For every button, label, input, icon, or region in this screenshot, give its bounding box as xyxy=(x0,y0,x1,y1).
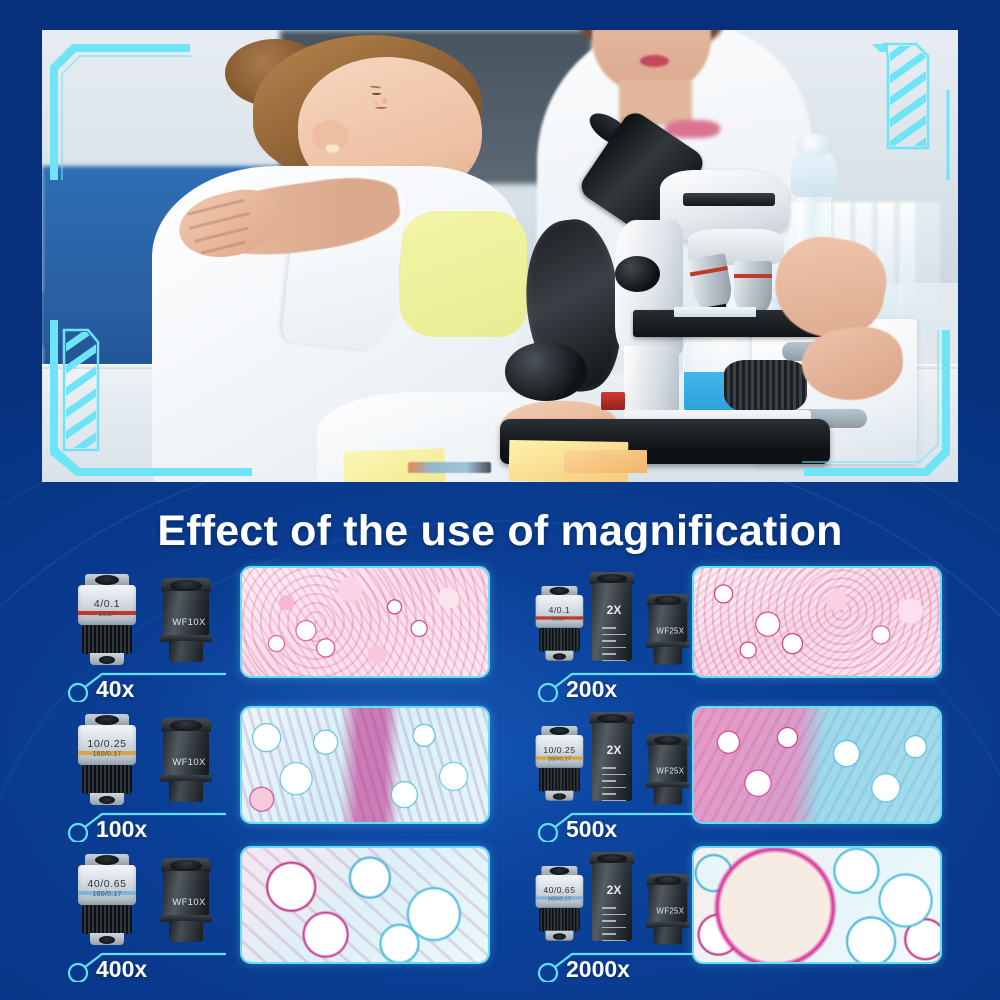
eyepiece-label: WF10X xyxy=(163,757,215,768)
sticky-note-small xyxy=(564,450,646,473)
hero-photo-frame xyxy=(42,30,958,482)
objective-lens: 10/0.25 160/0.17 xyxy=(76,714,138,806)
objective-spec: 160/0.17 xyxy=(536,896,584,902)
objective-lens: 10/0.25 160/0.17 xyxy=(534,726,585,801)
eyepiece: WF10X xyxy=(160,858,212,942)
objective-lens: 4/0.1 160/- xyxy=(534,586,585,661)
girl-earring xyxy=(326,145,339,151)
objective-power: 4/0.1 xyxy=(94,598,120,610)
lens-group: 4/0.1 160/- WF10X xyxy=(62,572,240,668)
specimen-image-400x xyxy=(240,846,490,964)
objective-lens: 4/0.1 160/- xyxy=(76,574,138,666)
product-infographic: Effect of the use of magnification 4/0.1… xyxy=(0,0,1000,1000)
specimen-image-100x xyxy=(240,706,490,824)
pen xyxy=(408,462,490,473)
girl-nose xyxy=(382,96,387,103)
barlow-label: 2X xyxy=(592,743,636,757)
objective-power: 10/0.25 xyxy=(543,746,575,756)
microscope-coarse-knob xyxy=(505,342,587,401)
specimen-image-40x xyxy=(240,566,490,678)
magnification-label: 100x xyxy=(96,816,246,843)
girl-shirt xyxy=(399,211,527,338)
lens-group: 10/0.25 160/0.17 WF10X xyxy=(62,712,240,808)
objective-power: 10/0.25 xyxy=(87,738,126,750)
microscope-power-switch xyxy=(601,392,625,410)
eyepiece-label: WF25X xyxy=(649,907,693,916)
objective-spec: 160/- xyxy=(78,611,136,618)
girl-eye xyxy=(372,92,381,95)
eyepiece: WF25X xyxy=(646,734,690,805)
objective-spec: 160/0.17 xyxy=(78,751,136,758)
magnification-label: 200x xyxy=(566,676,716,703)
barlow-lens: 2X xyxy=(590,572,634,662)
barlow-label: 2X xyxy=(592,603,636,617)
objective-spec: 160/0.17 xyxy=(536,756,584,762)
girl-eyebrow xyxy=(370,85,381,88)
eyepiece: WF10X xyxy=(160,578,212,662)
microscope-fine-knob xyxy=(615,256,661,292)
lens-group: 10/0.25 160/0.17 2X WF25X xyxy=(532,712,710,808)
barlow-lens: 2X xyxy=(590,712,634,802)
magnification-label: 400x xyxy=(96,956,246,983)
specimen-image-500x xyxy=(692,706,942,824)
eyepiece-label: WF25X xyxy=(649,767,693,776)
eyepiece: WF25X xyxy=(646,594,690,665)
eyepiece-label: WF25X xyxy=(649,627,693,636)
objective-power: 4/0.1 xyxy=(549,606,571,616)
adult-lips xyxy=(640,55,669,67)
page-title: Effect of the use of magnification xyxy=(0,507,1000,556)
eyepiece-label: WF10X xyxy=(163,897,215,908)
barlow-lens: 2X xyxy=(590,852,634,942)
lens-group: 40/0.65 160/0.17 2X WF25X xyxy=(532,852,710,948)
objective-spec: 160/- xyxy=(536,616,584,622)
objective-power: 40/0.65 xyxy=(87,878,126,890)
microscope-slide xyxy=(674,307,756,317)
microscope-head-band xyxy=(683,193,775,207)
girl-smile xyxy=(375,105,387,109)
specimen-image-200x xyxy=(692,566,942,678)
objective-spec: 160/0.17 xyxy=(78,891,136,898)
eyepiece: WF10X xyxy=(160,718,212,802)
barlow-label: 2X xyxy=(592,883,636,897)
objective-lens: 40/0.65 160/0.17 xyxy=(76,854,138,946)
flask-stopper-knob xyxy=(796,134,833,157)
objective-power: 40/0.65 xyxy=(543,886,575,896)
magnification-label: 40x xyxy=(96,676,246,703)
lens-group: 4/0.1 160/- 2X WF25X xyxy=(532,572,710,668)
eyepiece: WF25X xyxy=(646,874,690,945)
objective-lens: 40/0.65 160/0.17 xyxy=(534,866,585,941)
microscope-condenser-knob xyxy=(724,360,806,414)
lens-group: 40/0.65 160/0.17 WF10X xyxy=(62,852,240,948)
specimen-image-2000x xyxy=(692,846,942,964)
lab-photo xyxy=(42,30,958,482)
eyepiece-label: WF10X xyxy=(163,617,215,628)
